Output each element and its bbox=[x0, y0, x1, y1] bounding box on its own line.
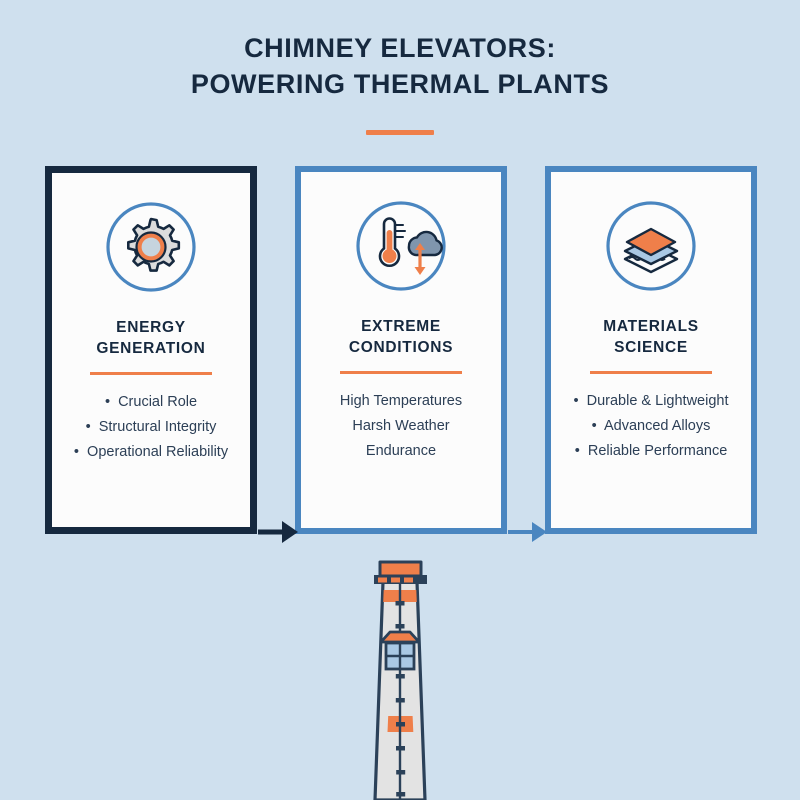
card-title: ENERGY GENERATION bbox=[96, 317, 205, 359]
list-item: • Advanced Alloys bbox=[557, 414, 745, 439]
card-title-line-2: SCIENCE bbox=[614, 339, 688, 356]
thermometer-cloud-icon bbox=[353, 198, 449, 294]
card-row: ENERGY GENERATION • Crucial Role • Struc… bbox=[0, 166, 800, 536]
card-item-list: High Temperatures Harsh Weather Enduranc… bbox=[301, 389, 501, 464]
title-line-2: POWERING THERMAL PLANTS bbox=[0, 66, 800, 102]
list-item: Harsh Weather bbox=[307, 414, 495, 439]
chimney-with-elevator bbox=[0, 556, 800, 800]
gear-icon bbox=[103, 199, 199, 295]
card-title: MATERIALS SCIENCE bbox=[603, 316, 699, 358]
card-title: EXTREME CONDITIONS bbox=[349, 316, 453, 358]
card-title-line-1: EXTREME bbox=[361, 318, 441, 335]
card-item-list: • Durable & Lightweight • Advanced Alloy… bbox=[551, 389, 751, 464]
infographic-page: CHIMNEY ELEVATORS: POWERING THERMAL PLAN… bbox=[0, 0, 800, 800]
list-item: • Operational Reliability bbox=[58, 440, 244, 465]
layered-materials-icon bbox=[603, 198, 699, 294]
list-item: • Structural Integrity bbox=[58, 415, 244, 440]
card-divider bbox=[90, 372, 212, 375]
card-title-line-1: ENERGY bbox=[116, 319, 186, 336]
card-materials-science[interactable]: MATERIALS SCIENCE • Durable & Lightweigh… bbox=[545, 166, 757, 534]
card-title-line-2: GENERATION bbox=[96, 340, 205, 357]
list-item: High Temperatures bbox=[307, 389, 495, 414]
arrow-card1-to-card2 bbox=[258, 517, 300, 547]
card-item-list: • Crucial Role • Structural Integrity • … bbox=[52, 390, 250, 465]
card-title-line-1: MATERIALS bbox=[603, 318, 699, 335]
card-divider bbox=[590, 371, 712, 374]
arrow-card2-to-card3 bbox=[508, 517, 550, 547]
card-extreme-conditions[interactable]: EXTREME CONDITIONS High Temperatures Har… bbox=[295, 166, 507, 534]
list-item: • Reliable Performance bbox=[557, 439, 745, 464]
card-divider bbox=[340, 371, 462, 374]
list-item: • Durable & Lightweight bbox=[557, 389, 745, 414]
page-title: CHIMNEY ELEVATORS: POWERING THERMAL PLAN… bbox=[0, 30, 800, 135]
card-energy-generation[interactable]: ENERGY GENERATION • Crucial Role • Struc… bbox=[45, 166, 257, 534]
list-item: • Crucial Role bbox=[58, 390, 244, 415]
title-divider bbox=[366, 130, 434, 135]
title-line-1: CHIMNEY ELEVATORS: bbox=[0, 30, 800, 66]
list-item: Endurance bbox=[307, 439, 495, 464]
card-title-line-2: CONDITIONS bbox=[349, 339, 453, 356]
